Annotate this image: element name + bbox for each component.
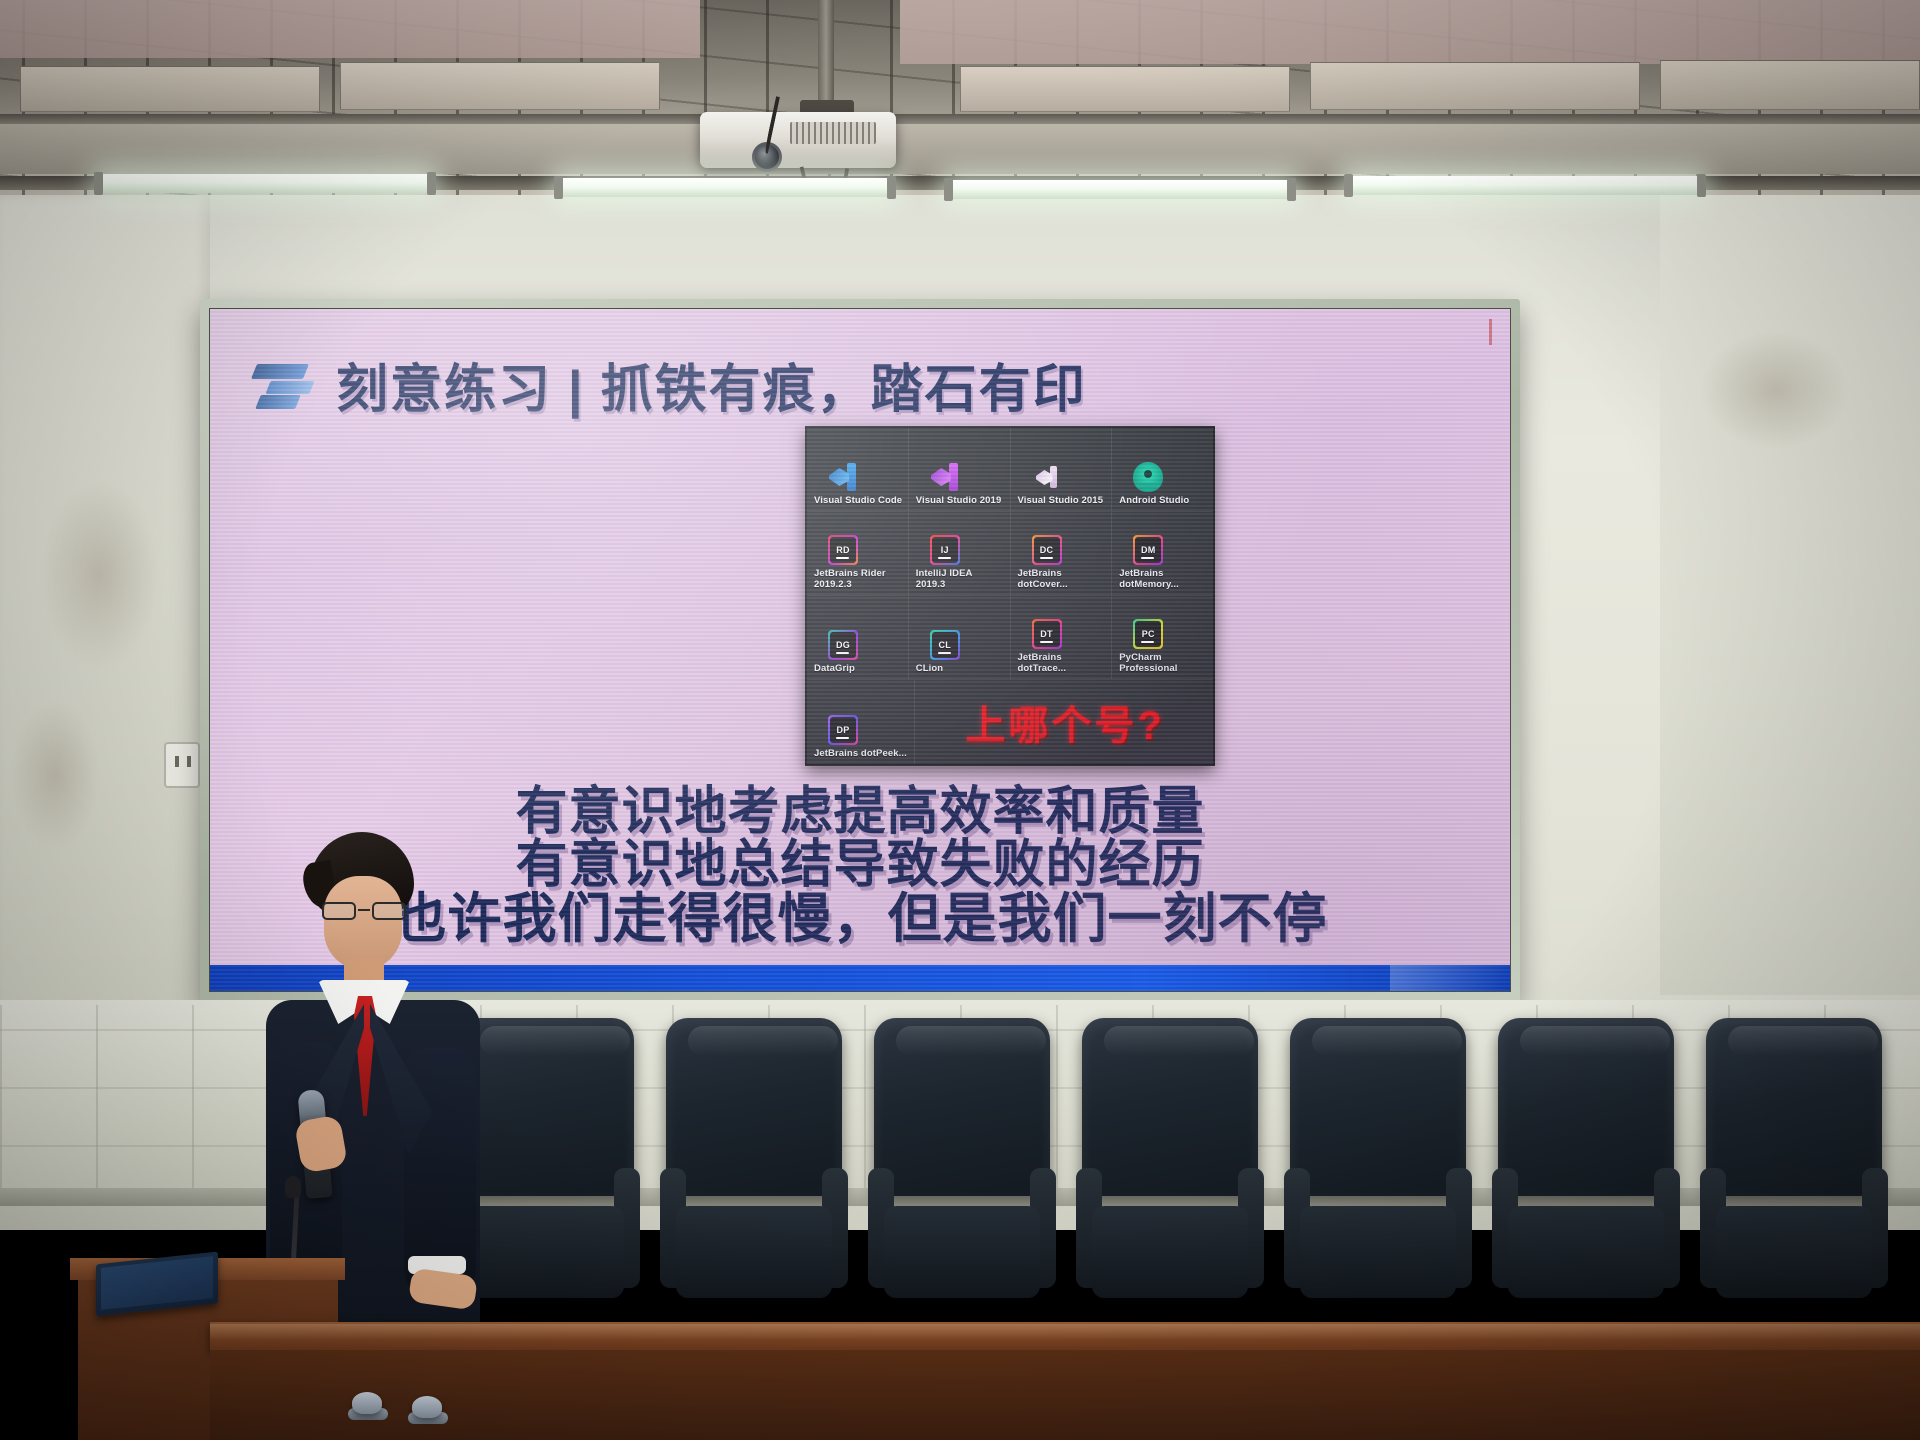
slide-line-1: 有意识地考虑提高效率和质量 bbox=[210, 786, 1510, 839]
glasses-icon bbox=[320, 902, 408, 920]
app-tile-jetbrains-dotmemory[interactable]: DM JetBrains dotMemory... bbox=[1112, 512, 1213, 596]
app-tile-jetbrains-dotcover[interactable]: DC JetBrains dotCover... bbox=[1011, 512, 1113, 596]
jetbrains-dotpeek-icon: DP bbox=[828, 715, 858, 745]
app-tile-intellij-idea[interactable]: IJ IntelliJ IDEA 2019.3 bbox=[909, 512, 1011, 596]
projector-vent bbox=[790, 122, 876, 144]
pycharm-professional-icon: PC bbox=[1133, 619, 1163, 649]
icon-tag: IJ bbox=[941, 545, 949, 555]
ceiling-soffit bbox=[0, 124, 1920, 174]
app-label: JetBrains Rider 2019.2.3 bbox=[814, 568, 903, 590]
chair bbox=[1700, 1018, 1888, 1338]
jetbrains-dotmemory-icon: DM bbox=[1133, 535, 1163, 565]
android-studio-icon bbox=[1133, 462, 1163, 492]
screenshot-red-caption-cell: 上哪个号? bbox=[915, 680, 1213, 764]
visual-studio-code-icon bbox=[828, 462, 858, 492]
icon-tag: DM bbox=[1141, 545, 1156, 555]
chair bbox=[660, 1018, 848, 1338]
projector-mount bbox=[818, 0, 834, 108]
ceiling-light-tube bbox=[1350, 176, 1700, 195]
jetbrains-dottrace-icon: DT bbox=[1032, 619, 1062, 649]
chair bbox=[1492, 1018, 1680, 1338]
app-tile-visual-studio-code[interactable]: Visual Studio Code bbox=[807, 428, 909, 512]
app-tile-jetbrains-dotpeek[interactable]: DP JetBrains dotPeek... bbox=[807, 680, 915, 764]
wall-right-panel bbox=[1660, 195, 1920, 995]
datagrip-icon: DG bbox=[828, 630, 858, 660]
icon-tag: DP bbox=[836, 725, 849, 735]
visual-studio-2015-icon bbox=[1032, 462, 1062, 492]
ceiling-panel bbox=[340, 62, 660, 110]
app-label: DataGrip bbox=[814, 663, 855, 674]
ceiling-panel bbox=[20, 66, 320, 112]
ceiling-light-tube bbox=[560, 178, 890, 197]
ceiling-panel bbox=[960, 66, 1290, 112]
ceiling-panel bbox=[1310, 62, 1640, 110]
clion-icon: CL bbox=[930, 630, 960, 660]
table-microphone bbox=[352, 1392, 382, 1414]
apps-row: DP JetBrains dotPeek... 上哪个号? bbox=[807, 680, 1213, 764]
icon-tag: DC bbox=[1040, 545, 1054, 555]
app-tile-jetbrains-dottrace[interactable]: DT JetBrains dotTrace... bbox=[1011, 596, 1113, 680]
ceiling-beam bbox=[0, 114, 1920, 124]
app-tile-android-studio[interactable]: Android Studio bbox=[1112, 428, 1213, 512]
desktop-apps-screenshot: Visual Studio Code Visual Studio 2019 bbox=[805, 426, 1215, 766]
gooseneck-microphone-head bbox=[285, 1176, 301, 1198]
icon-tag: DT bbox=[1040, 629, 1053, 639]
slide-title-main: 刻意练习 bbox=[336, 361, 552, 419]
wall-stain bbox=[40, 480, 160, 670]
power-socket bbox=[164, 742, 200, 788]
presenter-face bbox=[324, 876, 402, 970]
app-tile-jetbrains-rider[interactable]: RD JetBrains Rider 2019.2.3 bbox=[807, 512, 909, 596]
icon-tag: DG bbox=[836, 640, 850, 650]
app-tile-visual-studio-2015[interactable]: Visual Studio 2015 bbox=[1011, 428, 1113, 512]
ceiling-panel bbox=[0, 0, 700, 58]
app-label: Visual Studio 2015 bbox=[1018, 495, 1104, 506]
intellij-idea-icon: IJ bbox=[930, 535, 960, 565]
slide-title-sub: 抓铁有痕，踏石有印 bbox=[601, 361, 1087, 419]
chair bbox=[868, 1018, 1056, 1338]
chair bbox=[1284, 1018, 1472, 1338]
ceiling-light-tube bbox=[100, 174, 430, 193]
app-label: JetBrains dotTrace... bbox=[1018, 652, 1107, 674]
wall-stain bbox=[10, 700, 100, 850]
slide-logo-icon bbox=[254, 360, 316, 410]
slide-title-separator: | bbox=[568, 361, 585, 419]
app-label: Visual Studio Code bbox=[814, 495, 902, 506]
app-label: IntelliJ IDEA 2019.3 bbox=[916, 568, 1005, 590]
lecture-hall-scene: 刻意练习|抓铁有痕，踏石有印 Visual Studio Code bbox=[0, 0, 1920, 1440]
icon-tag: PC bbox=[1142, 629, 1155, 639]
slide-title-row: 刻意练习|抓铁有痕，踏石有印 bbox=[254, 347, 1087, 422]
app-label: Android Studio bbox=[1119, 495, 1189, 506]
app-tile-datagrip[interactable]: DG DataGrip bbox=[807, 596, 909, 680]
app-label: JetBrains dotPeek... bbox=[814, 748, 907, 759]
app-tile-clion[interactable]: CL CLion bbox=[909, 596, 1011, 680]
chair bbox=[1076, 1018, 1264, 1338]
jetbrains-rider-icon: RD bbox=[828, 535, 858, 565]
ceiling-panel bbox=[1660, 60, 1920, 110]
icon-tag: CL bbox=[938, 640, 951, 650]
icon-tag: RD bbox=[836, 545, 850, 555]
slide-corner-tick bbox=[1489, 319, 1492, 345]
apps-row: Visual Studio Code Visual Studio 2019 bbox=[807, 428, 1213, 512]
app-label: PyCharm Professional bbox=[1119, 652, 1208, 674]
app-label: Visual Studio 2019 bbox=[916, 495, 1002, 506]
ceiling-light-tube bbox=[950, 180, 1290, 199]
apps-row: DG DataGrip CL CLion DT bbox=[807, 596, 1213, 680]
ceiling-panel bbox=[900, 0, 1920, 64]
wall-stain bbox=[1700, 330, 1850, 450]
app-label: JetBrains dotMemory... bbox=[1119, 568, 1208, 590]
app-label: JetBrains dotCover... bbox=[1018, 568, 1107, 590]
app-label: CLion bbox=[916, 663, 943, 674]
slide-title: 刻意练习|抓铁有痕，踏石有印 bbox=[336, 347, 1087, 422]
app-tile-visual-studio-2019[interactable]: Visual Studio 2019 bbox=[909, 428, 1011, 512]
desk-gloss bbox=[210, 1324, 1920, 1340]
jetbrains-dotcover-icon: DC bbox=[1032, 535, 1062, 565]
screenshot-red-caption: 上哪个号? bbox=[965, 693, 1164, 751]
apps-row: RD JetBrains Rider 2019.2.3 IJ IntelliJ … bbox=[807, 512, 1213, 596]
app-tile-pycharm-professional[interactable]: PC PyCharm Professional bbox=[1112, 596, 1213, 680]
table-microphone bbox=[412, 1396, 442, 1418]
visual-studio-2019-icon bbox=[930, 462, 960, 492]
desk-body bbox=[210, 1350, 1920, 1440]
